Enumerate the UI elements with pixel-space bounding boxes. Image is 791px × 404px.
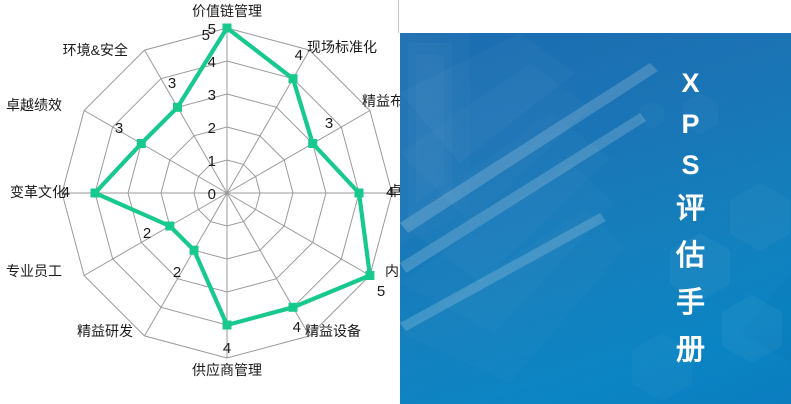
radar-spoke-8 [84,193,227,276]
radar-spoke-4 [227,193,370,276]
radar-value-label-10: 3 [115,120,123,137]
radar-value-label-6: 4 [223,340,231,357]
radar-value-label-9: 4 [62,184,70,201]
cover-title-char-3: 评 [671,195,711,224]
radar-point-9 [91,189,100,198]
radar-category-label-1: 现场标准化 [307,39,377,55]
radar-value-label-2: 3 [325,115,333,132]
radar-point-3 [355,189,364,198]
radial-tick-0: 0 [208,186,216,203]
radar-value-label-1: 4 [295,47,303,64]
cover-title-char-6: 册 [671,336,711,365]
radar-point-8 [165,222,174,231]
radar-point-1 [289,74,298,83]
radar-category-label-6: 供应商管理 [192,362,262,378]
radar-series [91,24,375,330]
cover-title-char-5: 手 [671,289,711,318]
radar-category-label-5: 精益设备 [305,323,361,339]
radar-value-label-3: 4 [386,184,394,201]
radial-tick-3: 3 [208,87,216,104]
cover-image-panel: XPS评估手册 [400,33,791,404]
radar-spoke-1 [227,50,310,193]
radar-point-4 [365,271,374,280]
cover-title-char-0: X [671,70,711,97]
radial-tick-4: 4 [208,54,216,71]
radar-point-0 [223,24,232,33]
radar-category-label-0: 价值链管理 [192,3,262,19]
radar-category-label-8: 专业员工 [6,263,62,279]
cover-title-char-2: S [671,152,711,179]
radial-tick-2: 2 [208,120,216,137]
radar-value-label-5: 4 [293,319,301,336]
radar-point-7 [190,246,199,255]
radar-value-label-7: 2 [173,264,181,281]
radar-value-label-11: 3 [168,75,176,92]
radar-category-label-9: 变革文化 [10,184,66,200]
panel-divider [398,0,399,33]
radar-point-5 [289,303,298,312]
radar-point-10 [137,139,146,148]
radar-category-label-7: 精益研发 [77,323,133,339]
radar-value-label-0: 5 [202,27,210,44]
screenshot-root: 012345 价值链管理现场标准化精益布局卓越工艺内建品质精益设备供应商管理精益… [0,0,791,404]
cover-title-vertical: XPS评估手册 [400,33,791,404]
radar-spoke-7 [145,193,228,336]
radar-point-11 [173,103,182,112]
radar-point-6 [223,321,232,330]
radar-point-2 [308,139,317,148]
radar-category-label-11: 环境&安全 [63,42,128,58]
radial-tick-1: 1 [208,153,216,170]
cover-title-char-1: P [671,111,711,138]
radar-value-label-8: 2 [143,225,151,242]
radar-chart-svg: 012345 价值链管理现场标准化精益布局卓越工艺内建品质精益设备供应商管理精益… [0,0,400,404]
radar-chart-panel: 012345 价值链管理现场标准化精益布局卓越工艺内建品质精益设备供应商管理精益… [0,0,400,404]
radar-grid-spokes [62,28,392,358]
radar-value-label-4: 5 [377,283,385,300]
radar-series-outline [95,28,370,325]
cover-title-char-4: 估 [671,242,711,271]
radar-category-label-10: 卓越绩效 [6,97,62,113]
